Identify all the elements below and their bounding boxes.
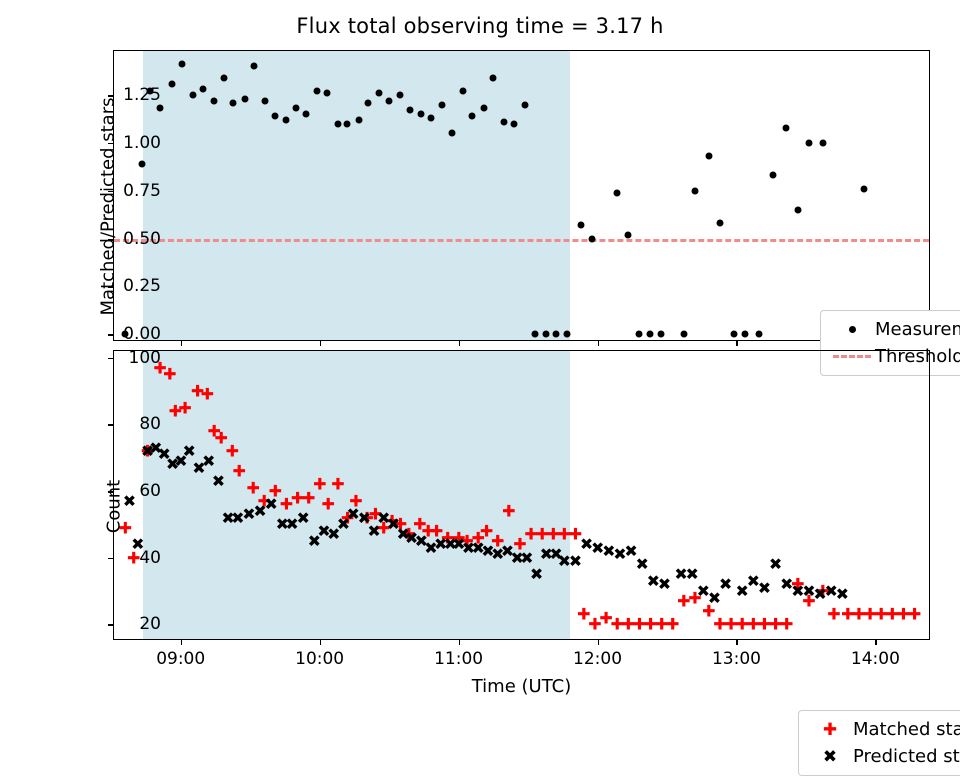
measurement-point	[418, 111, 425, 118]
measurement-point	[323, 90, 330, 97]
measurement-point	[397, 92, 404, 99]
measurements-dot-icon	[829, 320, 875, 340]
measurement-point	[156, 105, 163, 112]
measurement-point	[511, 120, 518, 127]
cross-marker-icon: ✖	[807, 747, 853, 767]
measurement-point	[293, 105, 300, 112]
legend-item-matched-stars[interactable]: ✚ Matched stars	[807, 716, 960, 743]
y-axis-tick	[108, 143, 114, 145]
matched-star-point: ✚	[827, 608, 840, 621]
top-panel-axes: Matched/Predicted stars 0.000.250.500.75…	[113, 50, 930, 341]
measurement-point	[501, 118, 508, 125]
measurement-point	[406, 107, 413, 114]
matched-star-point: ✚	[178, 401, 191, 414]
x-axis-tick	[320, 340, 322, 346]
predicted-star-point: ✖	[635, 558, 648, 571]
measurement-point	[716, 220, 723, 227]
measurement-point	[262, 97, 269, 104]
measurement-point	[613, 189, 620, 196]
measurement-point	[241, 95, 248, 102]
measurement-point	[480, 105, 487, 112]
measurement-point	[794, 206, 801, 213]
measurement-point	[365, 99, 372, 106]
bottom-panel-y-axis-title: Count	[104, 387, 125, 627]
measurement-point	[199, 86, 206, 93]
x-axis-tick-label: 11:00	[434, 649, 483, 669]
x-axis-tick	[736, 639, 738, 645]
y-axis-tick-label: 0.00	[123, 324, 161, 344]
y-axis-tick	[108, 286, 114, 288]
matched-star-point: ✚	[321, 498, 334, 511]
y-axis-tick-label: 20	[139, 614, 161, 634]
x-axis-tick	[736, 340, 738, 346]
bottom-panel-plot-area: ✚✚✚✚✚✚✚✚✚✚✚✚✚✚✚✚✚✚✚✚✚✚✚✚✚✚✚✚✚✚✚✚✚✚✚✚✚✚✚✚…	[114, 351, 929, 639]
measurement-point	[691, 187, 698, 194]
x-axis-tick	[459, 340, 461, 346]
page-title: Flux total observing time = 3.17 h	[0, 14, 960, 38]
measurement-point	[522, 101, 529, 108]
y-axis-tick	[108, 358, 114, 360]
measurement-point	[861, 185, 868, 192]
y-axis-tick-label: 80	[139, 414, 161, 434]
x-axis-title: Time (UTC)	[113, 676, 930, 697]
measurement-point	[427, 115, 434, 122]
measurement-point	[783, 124, 790, 131]
matched-star-point: ✚	[908, 608, 921, 621]
legend-label-predicted-stars: Predicted stars	[853, 746, 960, 767]
y-axis-tick-label: 60	[139, 481, 161, 501]
x-axis-tick	[181, 639, 183, 645]
measurement-point	[490, 74, 497, 81]
y-axis-tick-label: 100	[129, 348, 161, 368]
y-axis-tick	[108, 558, 114, 560]
measurement-point	[459, 88, 466, 95]
measurement-point	[230, 99, 237, 106]
shaded-observing-window	[143, 51, 570, 340]
y-axis-tick	[108, 424, 114, 426]
predicted-star-point: ✖	[265, 498, 278, 511]
measurement-point	[272, 113, 279, 120]
measurement-point	[647, 331, 654, 338]
x-axis-tick	[181, 340, 183, 346]
y-axis-tick	[108, 239, 114, 241]
matched-star-point: ✚	[331, 478, 344, 491]
measurement-point	[220, 74, 227, 81]
matched-star-point: ✚	[780, 618, 793, 631]
measurement-point	[283, 116, 290, 123]
predicted-star-point: ✖	[836, 588, 849, 601]
measurement-point	[334, 120, 341, 127]
measurement-point	[625, 231, 632, 238]
y-axis-tick	[108, 95, 114, 97]
y-axis-tick	[108, 191, 114, 193]
matched-star-point: ✚	[163, 368, 176, 381]
y-axis-tick	[108, 624, 114, 626]
predicted-star-point: ✖	[686, 568, 699, 581]
predicted-star-point: ✖	[758, 581, 771, 594]
x-axis-tick-label: 14:00	[851, 649, 900, 669]
x-axis-tick-label: 12:00	[573, 649, 622, 669]
legend-item-measurements[interactable]: Measurements	[829, 316, 960, 343]
predicted-star-point: ✖	[530, 568, 543, 581]
y-axis-tick-label: 0.50	[123, 229, 161, 249]
x-axis-tick-label: 13:00	[712, 649, 761, 669]
x-axis-tick	[320, 639, 322, 645]
measurement-point	[563, 331, 570, 338]
measurement-point	[805, 139, 812, 146]
y-axis-tick-label: 0.75	[123, 181, 161, 201]
measurement-point	[190, 92, 197, 99]
measurement-point	[741, 331, 748, 338]
predicted-star-point: ✖	[202, 455, 215, 468]
predicted-star-point: ✖	[658, 578, 671, 591]
x-axis-tick	[875, 639, 877, 645]
matched-star-point: ✚	[502, 505, 515, 518]
measurement-point	[577, 222, 584, 229]
figure: Flux total observing time = 3.17 h Match…	[0, 0, 960, 720]
x-axis-tick	[598, 340, 600, 346]
measurement-point	[448, 130, 455, 137]
measurement-point	[355, 116, 362, 123]
y-axis-tick-label: 1.00	[123, 133, 161, 153]
legend-label-matched-stars: Matched stars	[853, 719, 960, 740]
measurement-point	[251, 63, 258, 70]
measurement-point	[680, 331, 687, 338]
predicted-star-point: ✖	[520, 551, 533, 564]
matched-star-point: ✚	[313, 478, 326, 491]
top-panel-plot-area	[114, 51, 929, 340]
measurement-point	[438, 101, 445, 108]
measurement-point	[211, 97, 218, 104]
y-axis-tick-label: 1.25	[123, 85, 161, 105]
matched-star-point: ✚	[201, 388, 214, 401]
measurement-point	[819, 139, 826, 146]
measurement-point	[469, 113, 476, 120]
predicted-star-point: ✖	[569, 555, 582, 568]
y-axis-tick-label: 0.25	[123, 276, 161, 296]
measurement-point	[344, 120, 351, 127]
measurement-point	[769, 172, 776, 179]
measurement-point	[386, 97, 393, 104]
matched-star-point: ✚	[666, 618, 679, 631]
measurement-point	[658, 331, 665, 338]
y-axis-tick-label: 40	[139, 548, 161, 568]
measurement-point	[138, 160, 145, 167]
measurement-point	[179, 61, 186, 68]
measurement-point	[755, 331, 762, 338]
x-axis-tick	[459, 639, 461, 645]
measurement-point	[636, 331, 643, 338]
y-axis-tick	[108, 334, 114, 336]
predicted-star-point: ✖	[296, 511, 309, 524]
matched-star-point: ✚	[233, 465, 246, 478]
threshold-line	[114, 239, 929, 242]
legend-label-measurements: Measurements	[875, 319, 960, 340]
measurement-point	[730, 331, 737, 338]
predicted-star-point: ✖	[123, 495, 136, 508]
predicted-star-point: ✖	[183, 445, 196, 458]
measurement-point	[543, 331, 550, 338]
measurement-point	[532, 331, 539, 338]
measurement-point	[705, 153, 712, 160]
bottom-panel-axes: ✚✚✚✚✚✚✚✚✚✚✚✚✚✚✚✚✚✚✚✚✚✚✚✚✚✚✚✚✚✚✚✚✚✚✚✚✚✚✚✚…	[113, 350, 930, 640]
legend-item-predicted-stars[interactable]: ✖ Predicted stars	[807, 743, 960, 770]
measurement-point	[302, 111, 309, 118]
measurement-point	[588, 235, 595, 242]
predicted-star-point: ✖	[212, 475, 225, 488]
measurement-point	[552, 331, 559, 338]
x-axis-tick-label: 10:00	[295, 649, 344, 669]
x-axis-tick-label: 09:00	[156, 649, 205, 669]
predicted-star-point: ✖	[769, 558, 782, 571]
measurement-point	[169, 80, 176, 87]
top-panel-y-axis-title: Matched/Predicted stars	[98, 37, 119, 377]
x-axis-tick	[598, 639, 600, 645]
matched-star-point: ✚	[226, 445, 239, 458]
predicted-star-point: ✖	[719, 578, 732, 591]
measurement-point	[313, 88, 320, 95]
plus-marker-icon: ✚	[807, 720, 853, 740]
y-axis-tick	[108, 491, 114, 493]
measurement-point	[376, 90, 383, 97]
